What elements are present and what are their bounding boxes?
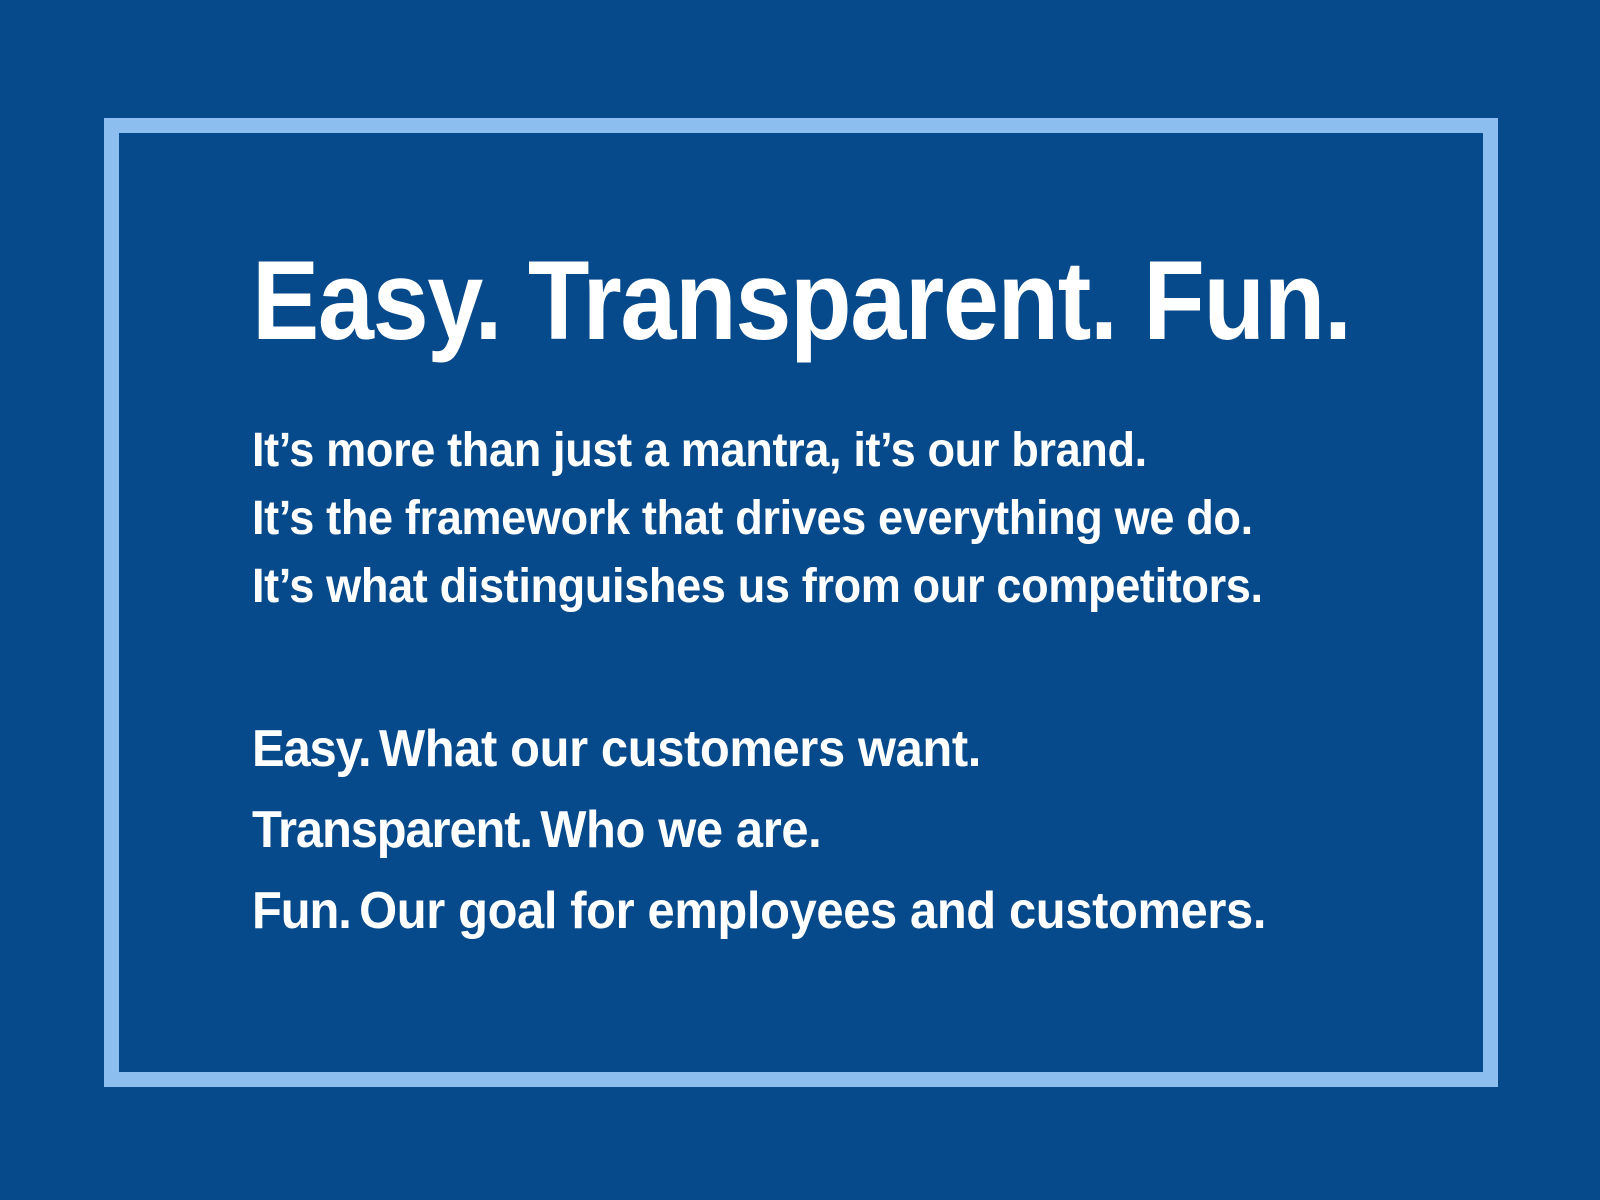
intro-paragraph-line-3: It’s what distinguishes us from our comp… [252, 553, 1408, 621]
intro-paragraph-line-1: It’s more than just a mantra, it’s our b… [252, 417, 1408, 485]
definition-description-transparent: Who we are. [540, 801, 821, 859]
definition-term-easy: Easy. [252, 720, 379, 778]
definition-term-fun: Fun. [252, 882, 359, 940]
definition-description-fun: Our goal for employees and customers. [359, 882, 1266, 940]
decorative-border-frame: Easy. Transparent. Fun. It’s more than j… [104, 118, 1498, 1087]
slide-canvas: Easy. Transparent. Fun. It’s more than j… [0, 0, 1600, 1200]
page-title: Easy. Transparent. Fun. [252, 245, 1359, 357]
definition-description-easy: What our customers want. [379, 720, 981, 778]
definition-item-fun: Fun.Our goal for employees and customers… [252, 871, 1408, 952]
intro-paragraph: It’s more than just a mantra, it’s our b… [252, 417, 1408, 621]
definition-term-transparent: Transparent. [252, 801, 540, 859]
intro-paragraph-line-2: It’s the framework that drives everythin… [252, 485, 1408, 553]
slide-content: Easy. Transparent. Fun. It’s more than j… [252, 245, 1482, 952]
definitions-list: Easy.What our customers want. Transparen… [252, 709, 1408, 952]
definition-item-easy: Easy.What our customers want. [252, 709, 1408, 790]
definition-item-transparent: Transparent.Who we are. [252, 790, 1408, 871]
